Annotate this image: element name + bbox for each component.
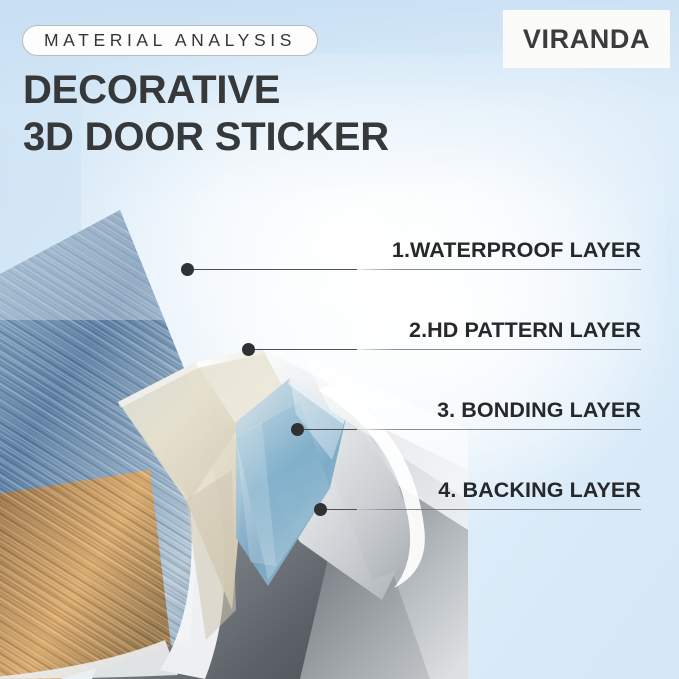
title-line-1: DECORATIVE bbox=[23, 67, 389, 114]
callout-4-dot bbox=[314, 503, 327, 516]
title-line-2: 3D DOOR STICKER bbox=[23, 114, 389, 161]
brand-name: VIRANDA bbox=[523, 24, 650, 55]
eyebrow-label: MATERIAL ANALYSIS bbox=[44, 30, 296, 51]
poster-canvas: 1.WATERPROOF LAYER 2.HD PATTERN LAYER 3.… bbox=[0, 0, 679, 679]
callout-4-label: 4. BACKING LAYER bbox=[438, 478, 641, 503]
eyebrow-badge: MATERIAL ANALYSIS bbox=[22, 25, 318, 56]
callout-4-rule bbox=[356, 509, 641, 510]
brand-logo: VIRANDA bbox=[503, 10, 670, 68]
page-title: DECORATIVE 3D DOOR STICKER bbox=[23, 67, 389, 161]
